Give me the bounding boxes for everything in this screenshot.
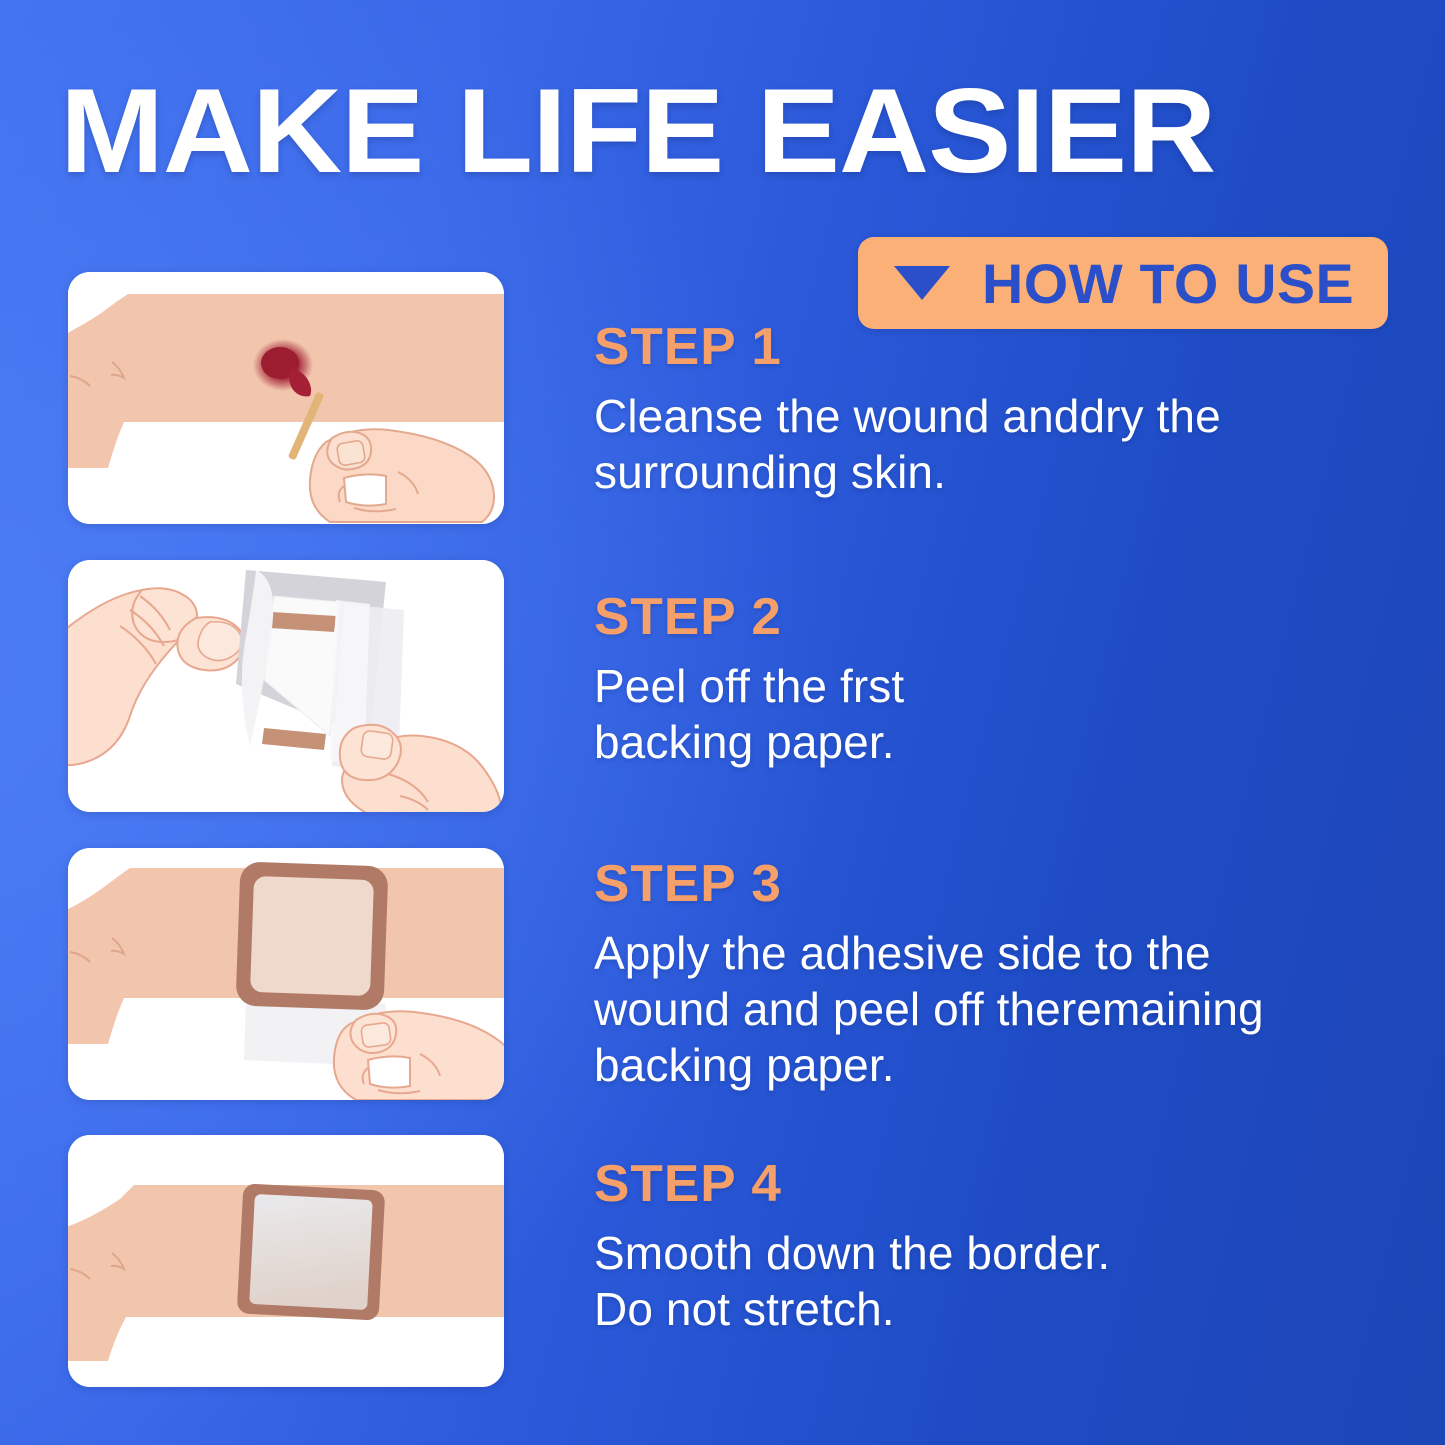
- illustration-panel-step-4: [68, 1135, 504, 1387]
- step-2-body: Peel off the frst backing paper.: [594, 658, 904, 770]
- illustration-panel-step-2: [68, 560, 504, 812]
- arm-with-wound-and-cotton-swab-icon: [68, 272, 504, 524]
- step-2-block: STEP 2 Peel off the frst backing paper.: [594, 588, 904, 770]
- step-3-block: STEP 3 Apply the adhesive side to the wo…: [594, 855, 1264, 1093]
- step-4-body: Smooth down the border. Do not stretch.: [594, 1225, 1110, 1337]
- applying-dressing-to-arm-icon: [68, 848, 504, 1100]
- smoothed-dressing-on-arm-icon: [68, 1135, 504, 1387]
- step-3-body: Apply the adhesive side to the wound and…: [594, 925, 1264, 1093]
- page-title: MAKE LIFE EASIER: [60, 72, 1445, 190]
- step-1-block: STEP 1 Cleanse the wound anddry the surr…: [594, 318, 1221, 500]
- illustration-panel-step-3: [68, 848, 504, 1100]
- illustration-panel-step-1: [68, 272, 504, 524]
- hands-peeling-backing-paper-icon: [68, 560, 504, 812]
- step-2-label: STEP 2: [594, 588, 910, 646]
- triangle-down-icon: [894, 266, 950, 300]
- step-4-block: STEP 4 Smooth down the border. Do not st…: [594, 1155, 1110, 1337]
- step-1-body: Cleanse the wound anddry the surrounding…: [594, 388, 1221, 500]
- how-to-use-badge: HOW TO USE: [858, 237, 1388, 329]
- how-to-use-label: HOW TO USE: [982, 251, 1354, 316]
- step-3-label: STEP 3: [594, 855, 1277, 913]
- step-4-label: STEP 4: [594, 1155, 1121, 1213]
- infographic-root: MAKE LIFE EASIER HOW TO USE: [0, 0, 1445, 1445]
- step-1-label: STEP 1: [594, 318, 1233, 376]
